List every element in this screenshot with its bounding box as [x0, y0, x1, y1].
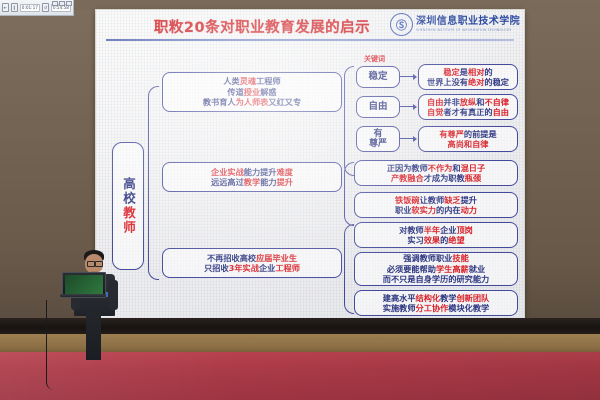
player-pause-button[interactable]: ‖	[11, 3, 18, 12]
projection-screen: 职敉20条对职业教育发展的启示 Ⓢ 深圳信息职业技术学院 SHENZHEN IN…	[96, 10, 524, 318]
player-minimize-icon[interactable]	[52, 1, 58, 6]
hall-wall-right-panel	[524, 0, 600, 352]
presenter-arm-right	[109, 280, 118, 310]
player-maximize-icon[interactable]	[59, 1, 65, 6]
player-replay-button[interactable]: ↺	[42, 3, 49, 12]
screenshot-root: 职敉20条对职业教育发展的启示 Ⓢ 深圳信息职业技术学院 SHENZHEN IN…	[0, 0, 600, 400]
laptop-screen	[65, 275, 103, 295]
floor-cable	[46, 300, 61, 390]
presenter-legs	[86, 312, 101, 360]
presenter-glasses-right	[95, 261, 103, 267]
media-player-toolbar[interactable]: ⇤ ‖ 0:01:17 ↺ 0:54:58	[0, 0, 74, 16]
player-back-button[interactable]: ⇤	[2, 3, 9, 12]
presenter-glasses-left	[87, 261, 95, 267]
player-window-controls[interactable]	[52, 1, 72, 6]
player-current-time: 0:01:17	[20, 4, 40, 12]
screen-glare	[96, 10, 524, 318]
player-close-icon[interactable]	[66, 1, 72, 6]
laptop-base	[60, 294, 106, 297]
